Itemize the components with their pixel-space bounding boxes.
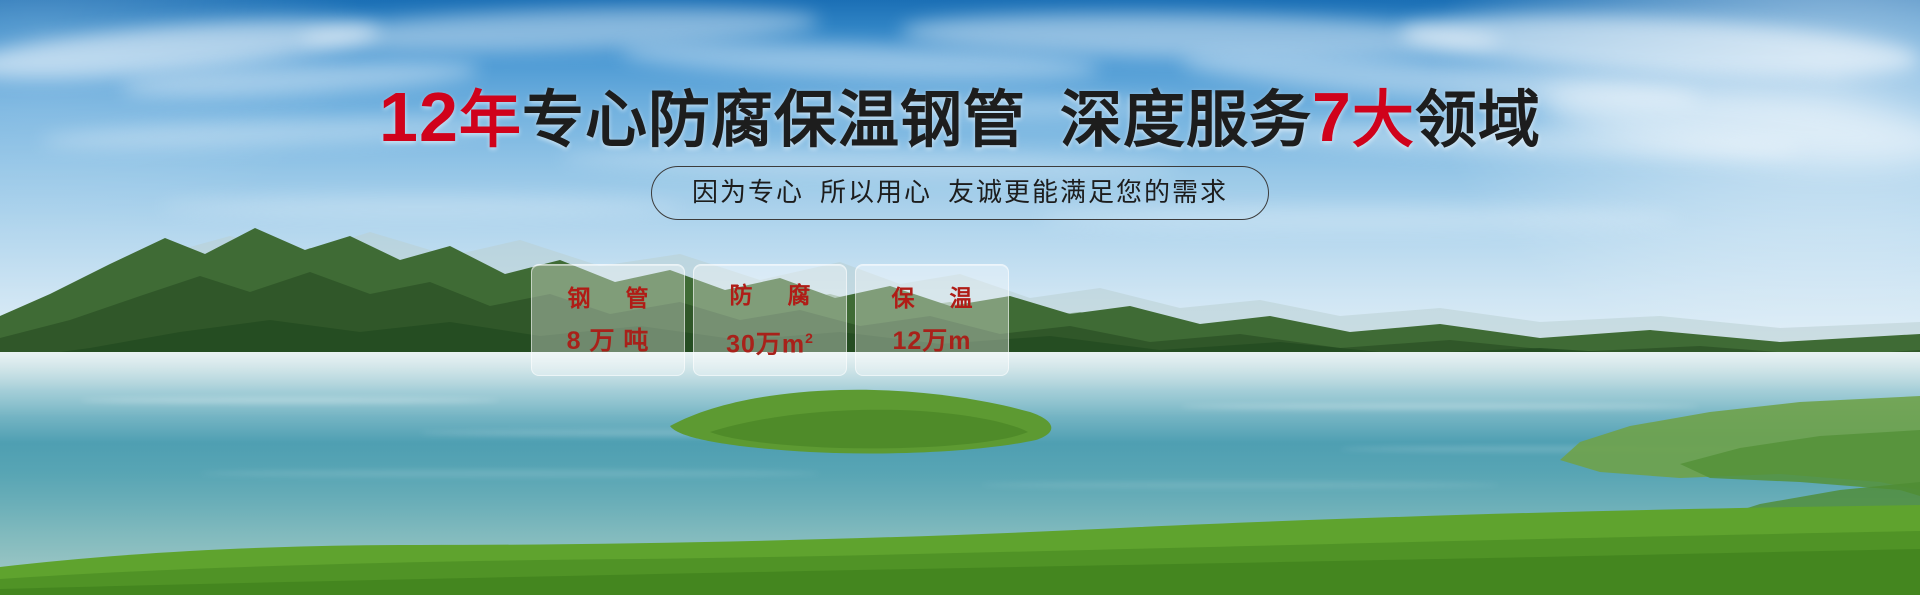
hero-banner: 12年专心防腐保温钢管深度服务7大领域 因为专心所以用心友诚更能满足您的需求 钢… <box>0 0 1920 595</box>
stat-card-value: 30万m2 <box>726 324 814 358</box>
subtitle-part-2: 所以用心 <box>820 177 932 207</box>
stat-card-anticorrosion: 防 腐 30万m2 <box>693 264 847 376</box>
stat-card-value-text: 12万m <box>892 327 971 355</box>
stat-card-label: 防 腐 <box>724 282 817 308</box>
subtitle-part-3: 友诚更能满足您的需求 <box>948 177 1228 207</box>
stat-card-value-sup: 2 <box>805 330 814 346</box>
stat-card-label: 钢 管 <box>562 285 655 311</box>
headline-fields-tail: 领域 <box>1415 86 1541 155</box>
headline-service-text: 深度服务 <box>1060 86 1312 155</box>
stat-cards: 钢 管 8 万 吨 防 腐 30万m2 保 温 12万m <box>531 264 1009 376</box>
stat-card-value-text: 8 万 吨 <box>567 327 650 355</box>
stat-card-insulation: 保 温 12万m <box>855 264 1009 376</box>
headline-years-number: 12 <box>379 78 459 156</box>
headline-years-unit: 年 <box>459 86 522 155</box>
banner-headline: 12年专心防腐保温钢管深度服务7大领域 <box>0 82 1920 156</box>
headline-fields-number: 7 <box>1312 78 1352 156</box>
stat-card-value-text: 30万m <box>726 330 805 358</box>
headline-main-text: 专心防腐保温钢管 <box>522 86 1026 155</box>
banner-subtitle-wrap: 因为专心所以用心友诚更能满足您的需求 <box>0 166 1920 220</box>
stat-card-label: 保 温 <box>886 285 979 311</box>
banner-subtitle-pill: 因为专心所以用心友诚更能满足您的需求 <box>651 166 1269 220</box>
stat-card-value: 8 万 吨 <box>567 327 650 355</box>
headline-fields-unit: 大 <box>1352 86 1415 155</box>
stat-card-steel-pipe: 钢 管 8 万 吨 <box>531 264 685 376</box>
stat-card-value: 12万m <box>892 327 971 355</box>
subtitle-part-1: 因为专心 <box>692 177 804 207</box>
banner-content: 12年专心防腐保温钢管深度服务7大领域 因为专心所以用心友诚更能满足您的需求 钢… <box>0 0 1920 595</box>
